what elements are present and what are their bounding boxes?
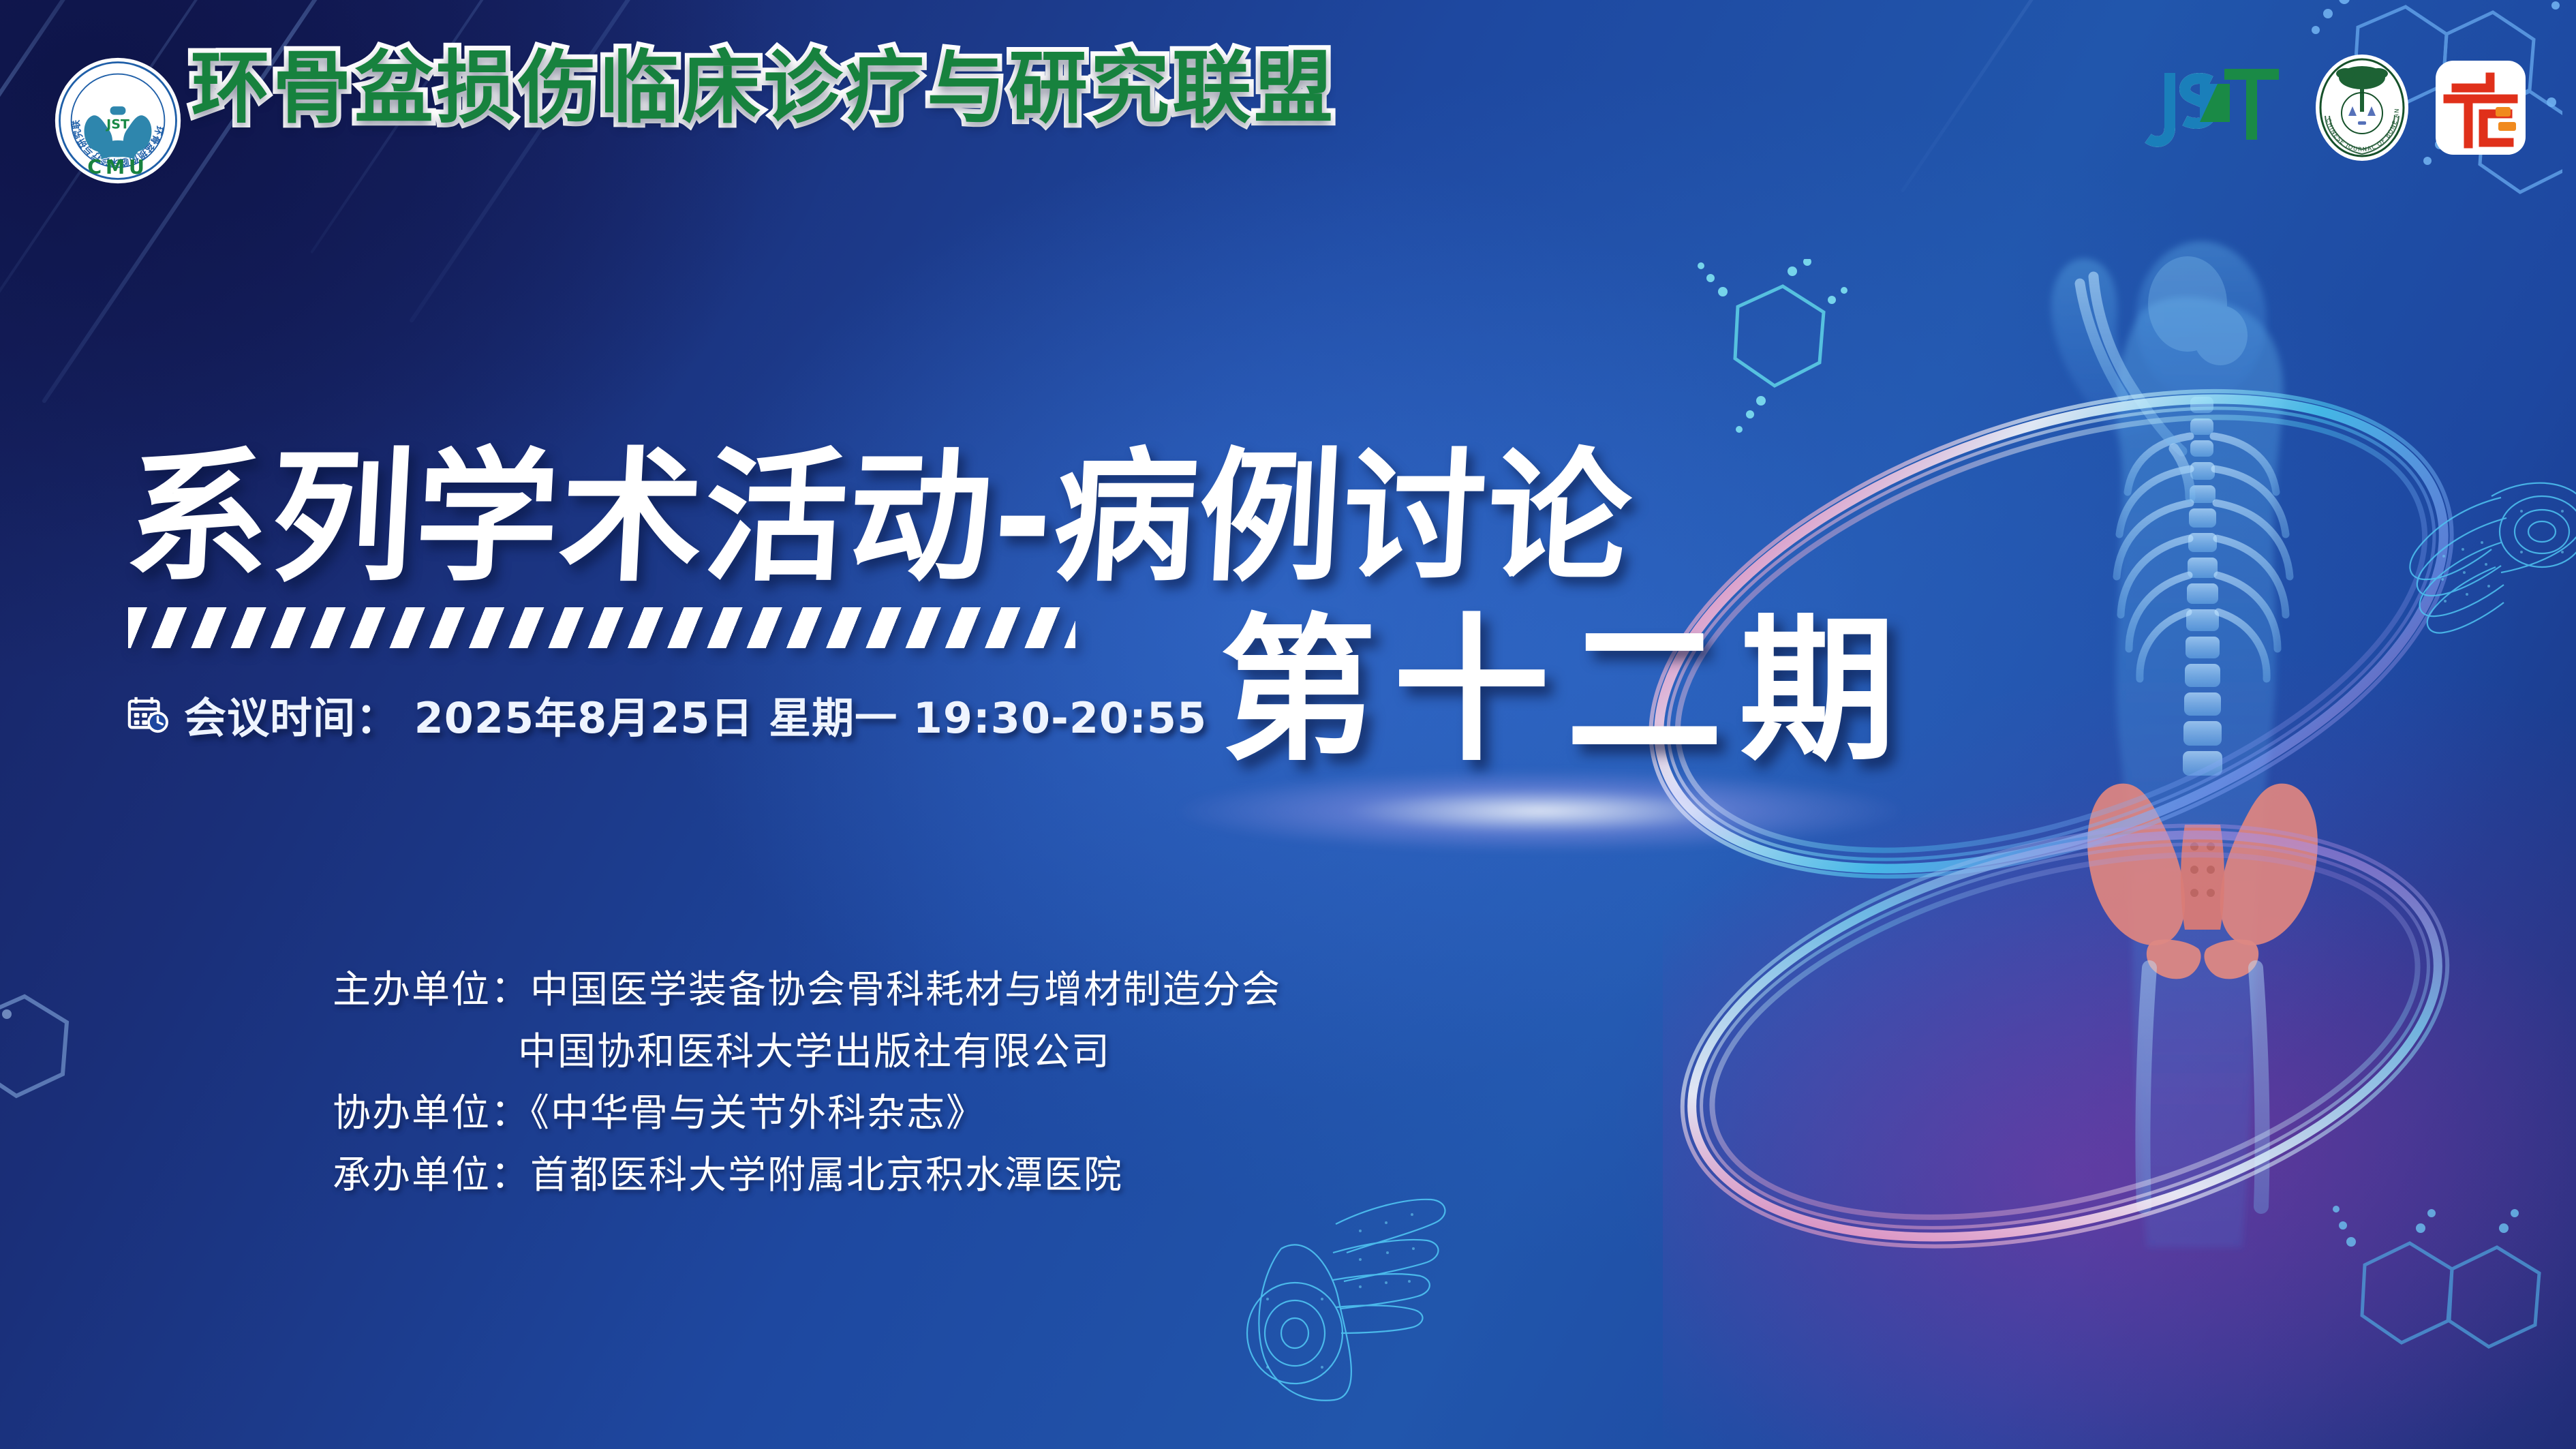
cmu-alliance-logo: 环骨盆损伤临床诊疗与研究联盟 JST CMU xyxy=(53,56,183,185)
organizer-value: 首都医科大学附属北京积水潭医院 xyxy=(530,1153,1123,1198)
organizer-row-host-2: 中国协和医科大学出版社有限公司 xyxy=(333,1022,1281,1084)
host-value-2: 中国协和医科大学出版社有限公司 xyxy=(518,1030,1111,1074)
poster-header: 环骨盆损伤临床诊疗与研究联盟 JST CMU 环骨盆损伤临床诊疗与研究联盟 xyxy=(0,0,2576,204)
issue-badge: 第十二期 xyxy=(1220,613,1912,770)
highlighted-pelvis xyxy=(2087,784,2318,979)
molecule-hexagon-upper-mid xyxy=(1690,259,1867,463)
molecule-hexagon-bottom-right xyxy=(2324,1204,2556,1408)
svg-text:JST: JST xyxy=(105,117,129,132)
cohost-value: 《中华骨与关节外科杂志》 xyxy=(530,1091,985,1135)
host-label: 主办单位： xyxy=(333,968,530,1012)
cjbjs-seal-logo: CHINESE JOURNAL OF BONE AND JOINT SURGER… xyxy=(2314,53,2410,162)
jst-logo: JST xyxy=(2134,57,2291,159)
background-glow-purple xyxy=(1663,767,2576,1449)
cohost-label: 协办单位： xyxy=(333,1091,530,1135)
diagonal-stripe-divider xyxy=(128,607,1075,648)
xray-skeleton-figure xyxy=(1915,143,2474,1370)
cmu-logo-abbr: CMU xyxy=(87,156,149,179)
organizer-row-organizer: 承办单位：首都医科大学附属北京积水潭医院 xyxy=(333,1145,1281,1207)
organizer-block: 主办单位：中国医学装备协会骨科耗材与增材制造分会 中国协和医科大学出版社有限公司… xyxy=(333,960,1281,1207)
molecule-hexagon-left-mid xyxy=(0,941,177,1213)
glow-ring-lower xyxy=(1547,695,2576,1377)
cmu-logo-inner-jst: JST xyxy=(105,117,129,132)
organizer-row-cohost: 协办单位：《中华骨与关节外科杂志》 xyxy=(333,1083,1281,1145)
organizer-row-host: 主办单位：中国医学装备协会骨科耗材与增材制造分会 xyxy=(333,960,1281,1022)
calendar-clock-icon xyxy=(127,695,169,734)
organizer-label: 承办单位： xyxy=(333,1153,530,1198)
wireframe-hand-upper xyxy=(2297,416,2576,709)
meeting-time-text: 会议时间： 2025年8月25日 星期一 19:30-20:55 xyxy=(184,684,1207,745)
issue-badge-glow xyxy=(1179,770,1901,852)
alliance-title: 环骨盆损伤临床诊疗与研究联盟 xyxy=(191,49,1336,128)
partner-logos: JST xyxy=(2134,53,2528,162)
main-title: 系列学术活动-病例讨论 xyxy=(123,446,1834,590)
pumc-press-logo: 协和 xyxy=(2433,57,2528,159)
conference-poster: 环骨盆损伤临床诊疗与研究联盟 JST CMU 环骨盆损伤临床诊疗与研究联盟 xyxy=(0,0,2576,1449)
host-value-1: 中国医学装备协会骨科耗材与增材制造分会 xyxy=(530,968,1281,1012)
